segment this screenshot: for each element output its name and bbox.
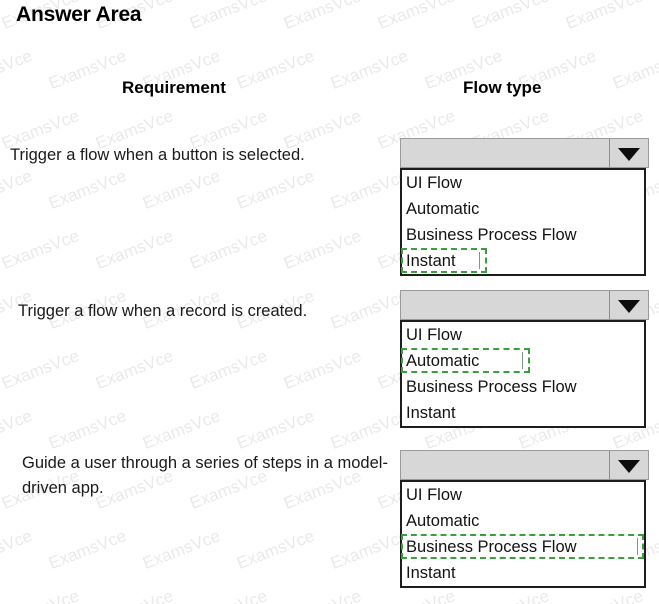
- flow-type-dropdown-2[interactable]: [400, 290, 649, 320]
- list-item-selected[interactable]: Automatic: [402, 348, 644, 374]
- chevron-down-icon[interactable]: [618, 460, 640, 473]
- list-item[interactable]: Instant: [402, 560, 644, 586]
- list-item[interactable]: Business Process Flow: [402, 374, 644, 400]
- list-item-label: Instant: [406, 252, 456, 270]
- flow-type-option-list-2[interactable]: UI Flow Automatic Business Process Flow …: [400, 320, 646, 428]
- column-header-flow-type: Flow type: [463, 78, 541, 98]
- flow-type-dropdown-3[interactable]: [400, 450, 649, 480]
- list-item-selected[interactable]: Business Process Flow: [402, 534, 644, 560]
- chevron-down-icon[interactable]: [618, 148, 640, 161]
- dropdown-divider: [609, 451, 610, 479]
- list-item[interactable]: Automatic: [402, 508, 644, 534]
- list-item[interactable]: Automatic: [402, 196, 644, 222]
- requirement-label: Guide a user through a series of steps i…: [22, 451, 392, 501]
- requirement-label: Trigger a flow when a button is selected…: [10, 143, 305, 168]
- list-item[interactable]: UI Flow: [402, 482, 644, 508]
- requirement-label: Trigger a flow when a record is created.: [18, 299, 307, 324]
- text-caret: [479, 252, 480, 269]
- dropdown-divider: [609, 291, 610, 319]
- list-item-label: Business Process Flow: [406, 538, 577, 556]
- list-item[interactable]: Business Process Flow: [402, 222, 644, 248]
- list-item[interactable]: Instant: [402, 400, 644, 426]
- text-caret: [637, 538, 638, 555]
- list-item-selected[interactable]: Instant: [402, 248, 644, 274]
- dropdown-divider: [609, 139, 610, 167]
- list-item[interactable]: UI Flow: [402, 170, 644, 196]
- answer-area-panel: Answer Area Requirement Flow type Trigge…: [0, 0, 659, 604]
- flow-type-dropdown-1[interactable]: [400, 138, 649, 168]
- flow-type-option-list-1[interactable]: UI Flow Automatic Business Process Flow …: [400, 168, 646, 276]
- text-caret: [522, 352, 523, 369]
- flow-type-option-list-3[interactable]: UI Flow Automatic Business Process Flow …: [400, 480, 646, 588]
- page-title: Answer Area: [16, 3, 141, 27]
- list-item[interactable]: UI Flow: [402, 322, 644, 348]
- column-header-requirement: Requirement: [122, 78, 226, 98]
- chevron-down-icon[interactable]: [618, 300, 640, 313]
- list-item-label: Automatic: [406, 352, 479, 370]
